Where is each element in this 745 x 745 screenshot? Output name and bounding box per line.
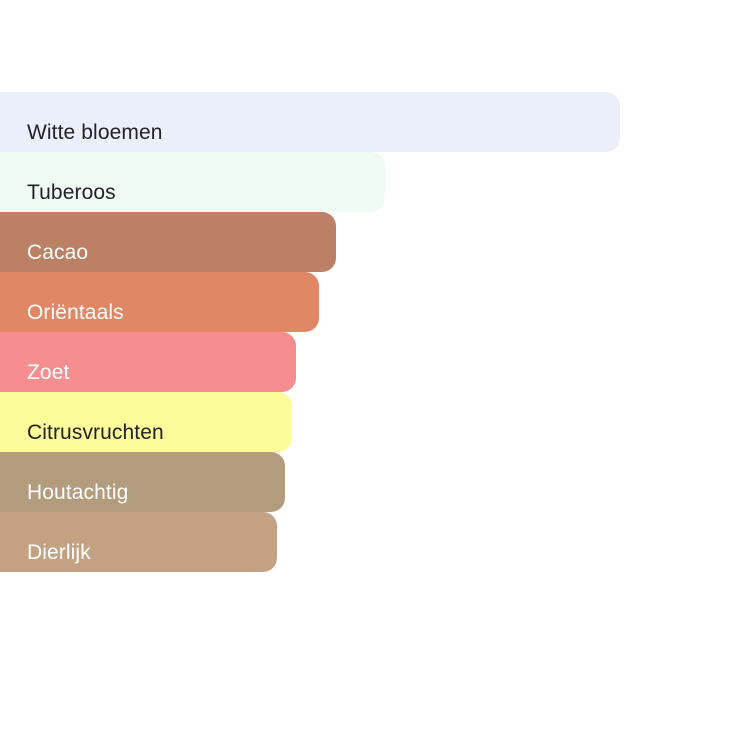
bar-row[interactable]: Witte bloemen <box>0 92 745 152</box>
bar-citrusvruchten[interactable] <box>0 392 292 452</box>
bar-row[interactable]: Citrusvruchten <box>0 392 745 452</box>
bar-series: Witte bloemen Tuberoos Cacao Oriëntaals … <box>0 92 745 572</box>
bar-row[interactable]: Oriëntaals <box>0 272 745 332</box>
bar-tuberoos[interactable] <box>0 152 385 212</box>
bar-witte-bloemen[interactable] <box>0 92 620 152</box>
bar-row[interactable]: Zoet <box>0 332 745 392</box>
bar-row[interactable]: Dierlijk <box>0 512 745 572</box>
bar-chart: Witte bloemen Tuberoos Cacao Oriëntaals … <box>0 0 745 745</box>
bar-zoet[interactable] <box>0 332 296 392</box>
bar-houtachtig[interactable] <box>0 452 285 512</box>
bar-dierlijk[interactable] <box>0 512 277 572</box>
bar-row[interactable]: Houtachtig <box>0 452 745 512</box>
bar-row[interactable]: Cacao <box>0 212 745 272</box>
bar-orientaals[interactable] <box>0 272 319 332</box>
bar-row[interactable]: Tuberoos <box>0 152 745 212</box>
bar-cacao[interactable] <box>0 212 336 272</box>
